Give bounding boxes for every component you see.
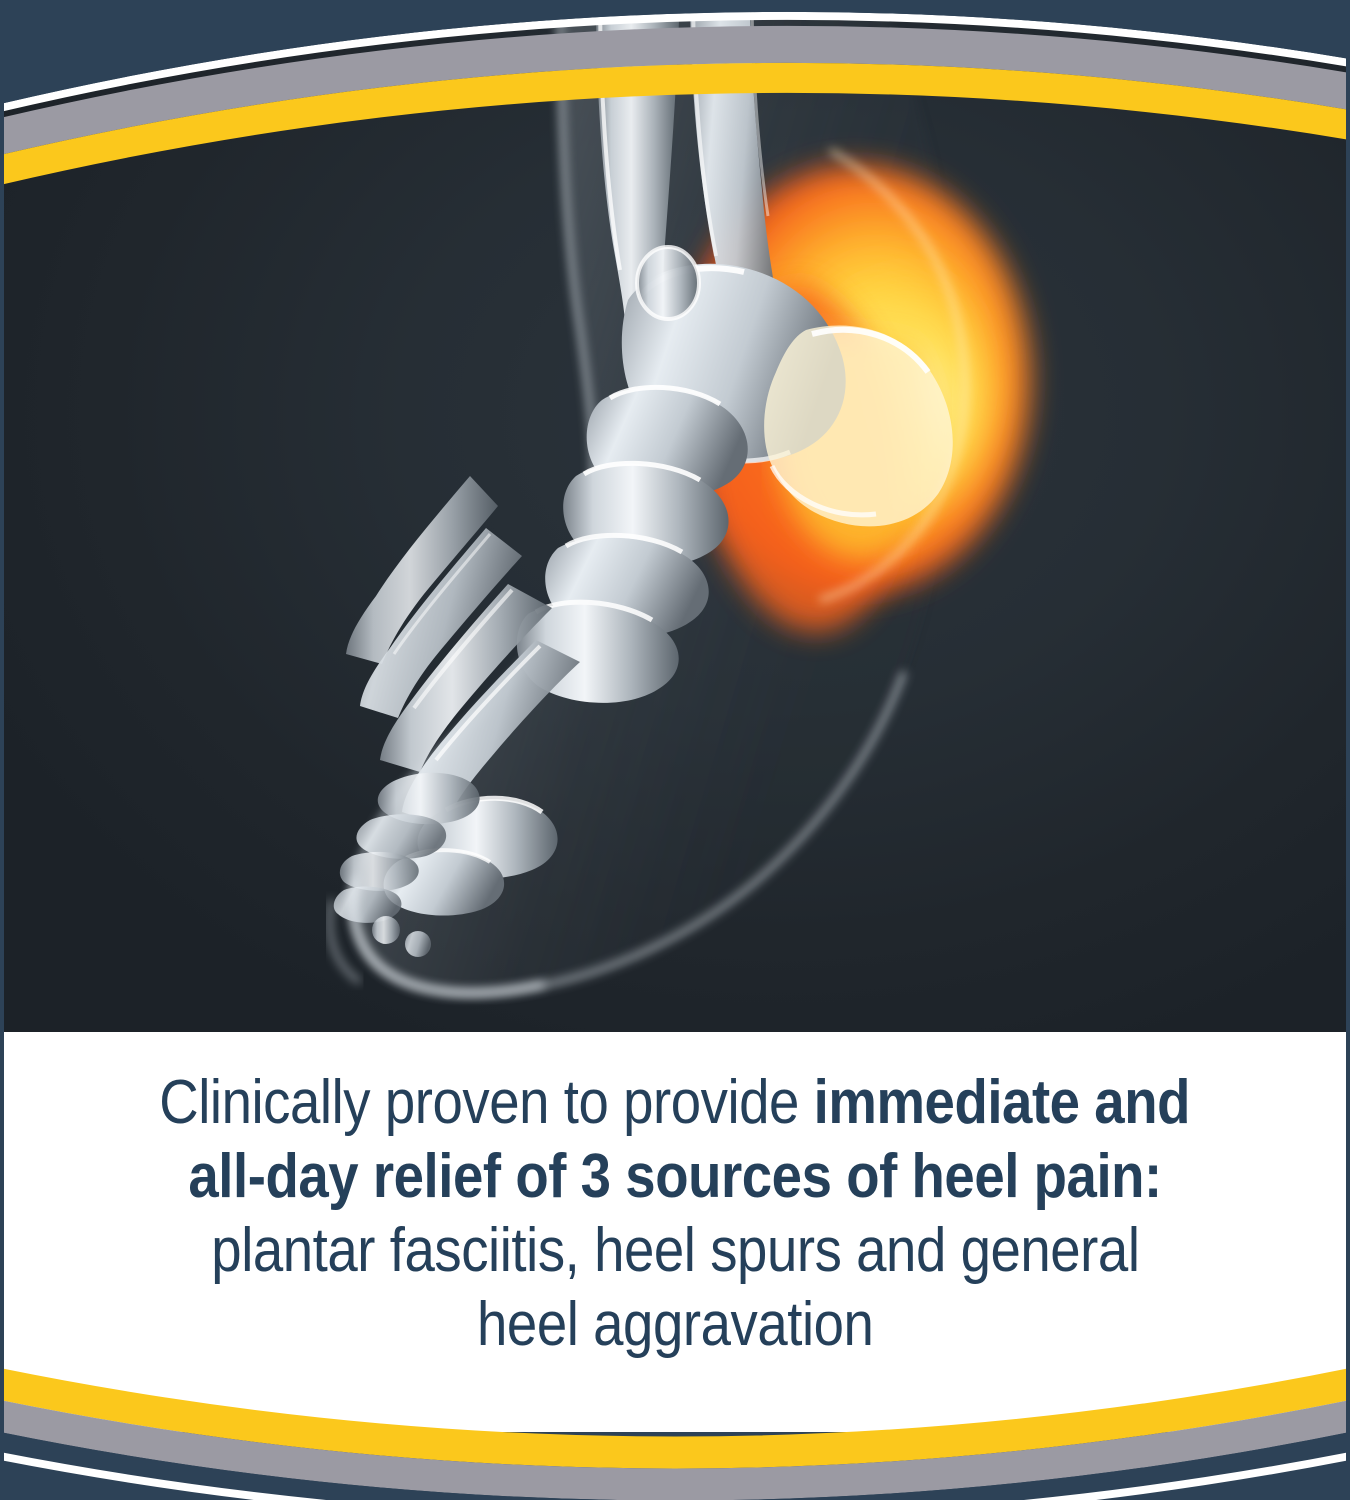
decorative-frame [0,0,1350,1500]
right-edge-rail [1346,0,1350,1500]
promo-card: Clinically proven to provide immediate a… [0,0,1350,1500]
left-edge-rail [0,0,4,1500]
